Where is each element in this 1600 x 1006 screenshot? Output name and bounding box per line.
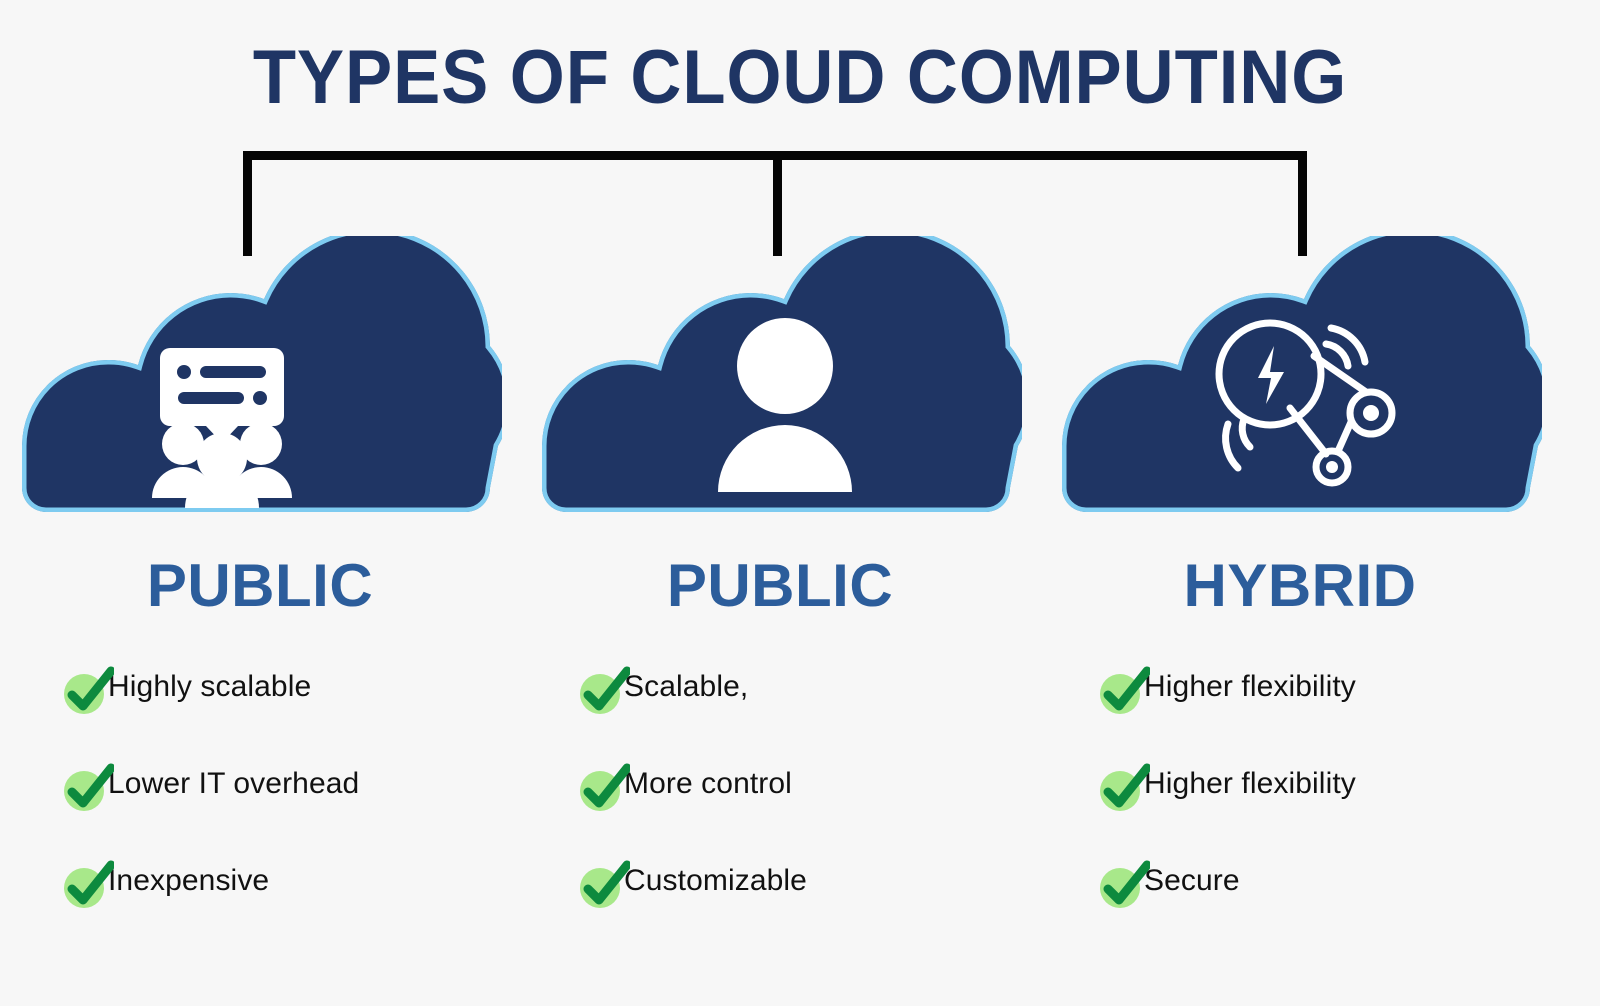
category-label-public-left: PUBLIC (0, 556, 520, 616)
list-item: Scalable, (520, 662, 1040, 759)
cloud-shape-public-middle[interactable] (538, 236, 1022, 516)
column-public-middle: PUBLIC Scalable, (520, 0, 1040, 1006)
check-icon (1098, 858, 1150, 910)
feature-text: Inexpensive (108, 856, 269, 906)
check-icon (62, 664, 114, 716)
check-icon (578, 761, 630, 813)
feature-list-public-left: Highly scalable Lower IT overhead (0, 662, 520, 953)
list-item: Secure (1040, 856, 1560, 953)
feature-text: Scalable, (624, 662, 748, 712)
list-item: Customizable (520, 856, 1040, 953)
feature-text: Higher flexibility (1144, 662, 1356, 712)
people-group-message-icon (152, 348, 292, 508)
feature-text: Customizable (624, 856, 807, 906)
feature-text: Higher flexibility (1144, 759, 1356, 809)
cloud-columns: PUBLIC Highly scalable (0, 0, 1600, 1006)
list-item: Lower IT overhead (0, 759, 520, 856)
column-hybrid-right: HYBRID Higher flexibility (1040, 0, 1560, 1006)
check-icon (62, 858, 114, 910)
feature-text: Lower IT overhead (108, 759, 359, 809)
feature-text: More control (624, 759, 792, 809)
list-item: More control (520, 759, 1040, 856)
list-item: Higher flexibility (1040, 662, 1560, 759)
cloud-shape-hybrid-right[interactable] (1058, 236, 1542, 516)
feature-text: Secure (1144, 856, 1240, 906)
cloud-shape-public-left[interactable] (18, 236, 502, 516)
category-label-hybrid-right: HYBRID (1040, 556, 1560, 616)
check-icon (1098, 664, 1150, 716)
category-label-public-middle: PUBLIC (520, 556, 1040, 616)
feature-list-hybrid-right: Higher flexibility Higher flexibility (1040, 662, 1560, 953)
check-icon (578, 858, 630, 910)
check-icon (1098, 761, 1150, 813)
feature-list-public-middle: Scalable, More control (520, 662, 1040, 953)
list-item: Highly scalable (0, 662, 520, 759)
list-item: Inexpensive (0, 856, 520, 953)
check-icon (62, 761, 114, 813)
list-item: Higher flexibility (1040, 759, 1560, 856)
column-public-left: PUBLIC Highly scalable (0, 0, 520, 1006)
feature-text: Highly scalable (108, 662, 311, 712)
check-icon (578, 664, 630, 716)
infographic-canvas: TYPES OF CLOUD COMPUTING (0, 0, 1600, 1006)
